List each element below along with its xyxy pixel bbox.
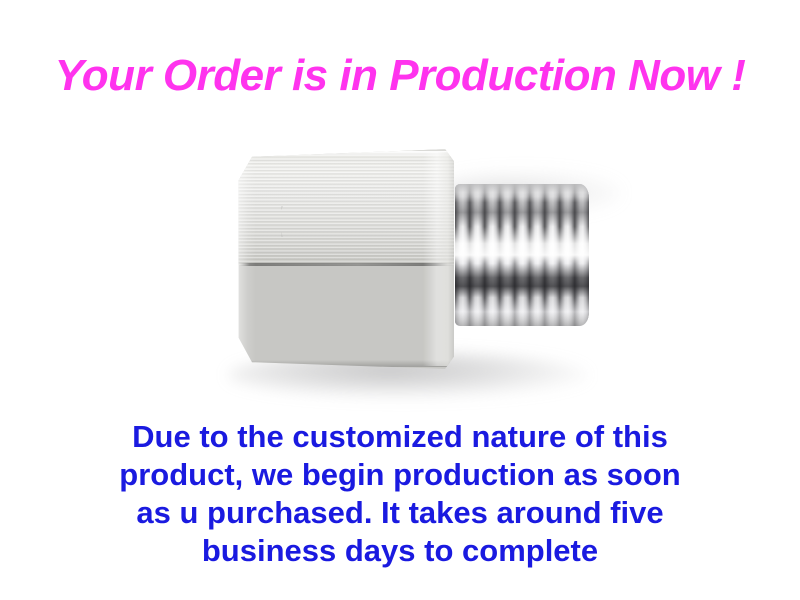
- disclaimer-line-3: as u purchased. It takes around five: [0, 494, 800, 532]
- product-image: [0, 120, 800, 410]
- disclaimer-line-4: business days to complete: [0, 532, 800, 570]
- hex-shoulder-right: [423, 152, 454, 365]
- disclaimer-line-1: Due to the customized nature of this: [0, 418, 800, 456]
- disclaimer-line-2: product, we begin production as soon: [0, 456, 800, 494]
- hex-surface-scuff: [281, 206, 405, 237]
- hex-chamfer-top: [245, 151, 449, 158]
- hex-face-lower: [232, 265, 454, 370]
- hex-parting-line: [239, 263, 454, 266]
- hex-bevel-left: [236, 157, 256, 361]
- page-title: Your Order is in Production Now !: [0, 50, 800, 102]
- promo-banner: Your Order is in Production Now ! Due to…: [0, 0, 800, 600]
- disclaimer-text: Due to the customized nature of this pro…: [0, 418, 800, 570]
- hex-body: [232, 148, 454, 370]
- male-threaded-nipple: [455, 184, 589, 326]
